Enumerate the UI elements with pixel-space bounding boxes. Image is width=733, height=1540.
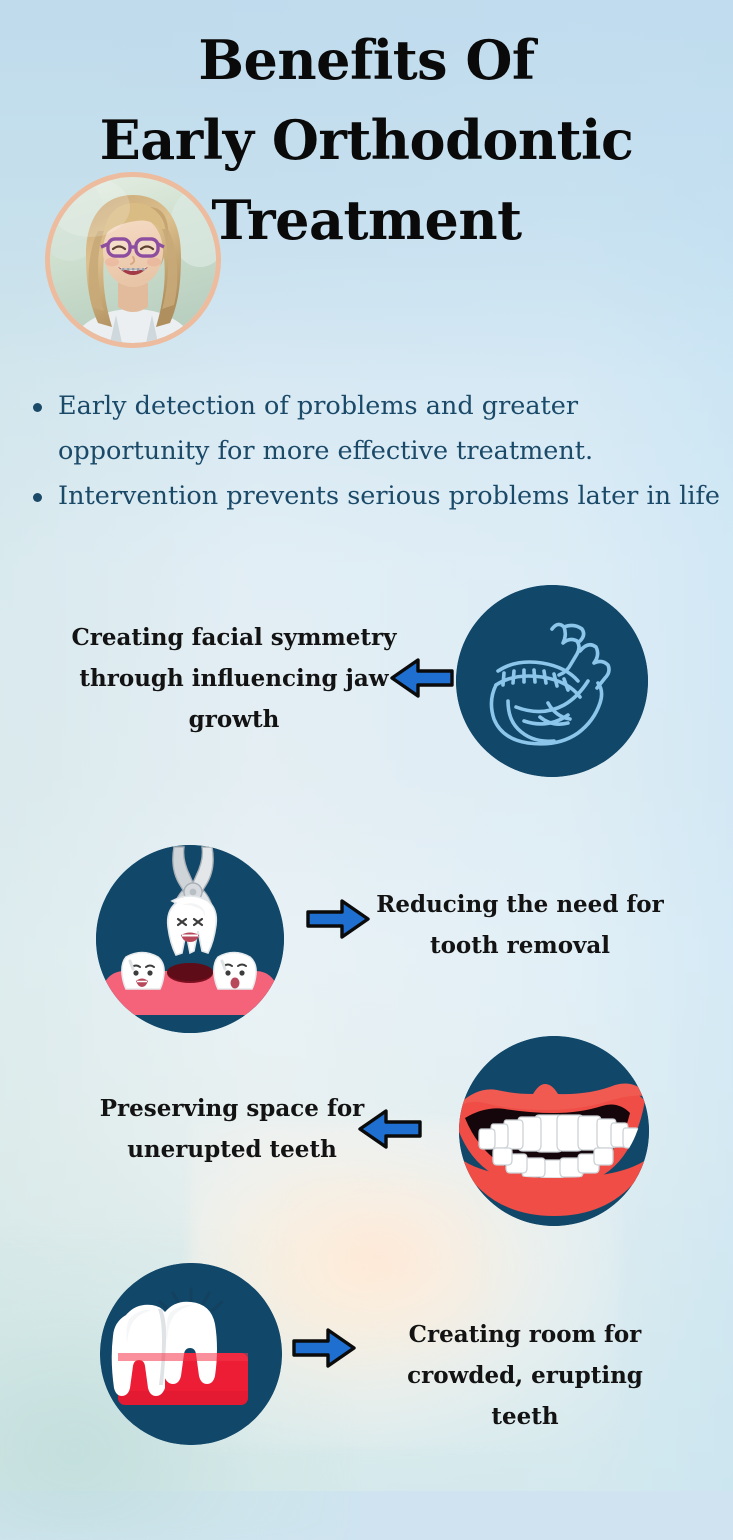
benefit-caption-facial-symmetry: Creating facial symmetry through influen… — [64, 617, 404, 740]
bullet-item: Early detection of problems and greater … — [14, 384, 733, 474]
crowded-teeth-icon — [100, 1263, 282, 1445]
arrow-left-icon — [356, 1103, 426, 1155]
title-line-2: Early Orthodontic — [0, 100, 733, 180]
bullet-item: Intervention prevents serious problems l… — [14, 474, 733, 519]
benefit-caption-tooth-removal: Reducing the need for tooth removal — [360, 884, 680, 966]
arrow-right-icon — [288, 1322, 358, 1374]
benefit-caption-crowded-teeth: Creating room for crowded, erupting teet… — [380, 1314, 670, 1437]
title-line-3: Treatment — [0, 180, 733, 260]
page-title: Benefits Of Early Orthodontic Treatment — [0, 20, 733, 260]
smile-teeth-icon — [459, 1036, 649, 1226]
benefit-caption-unerupted-teeth: Preserving space for unerupted teeth — [72, 1088, 392, 1170]
tooth-extraction-icon — [96, 845, 284, 1033]
title-line-1: Benefits Of — [0, 20, 733, 100]
benefits-bullet-list: Early detection of problems and greater … — [14, 384, 733, 519]
arrow-left-icon — [388, 652, 458, 704]
jaw-bone-icon — [456, 585, 648, 777]
